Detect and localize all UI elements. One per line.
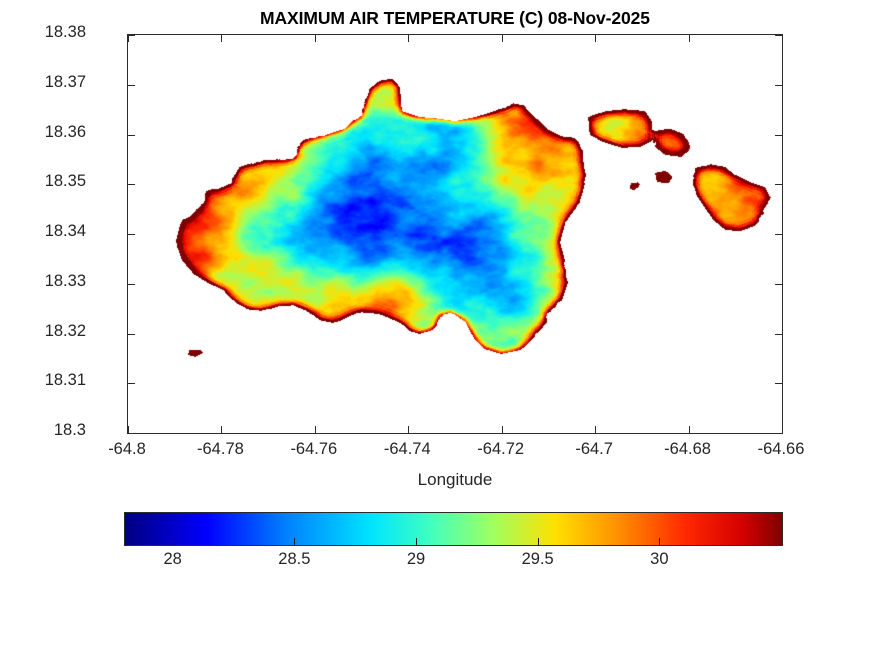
y-tick-label: 18.33 [0, 272, 86, 291]
colorbar-tick-label: 28 [128, 550, 218, 569]
y-tick-mark [775, 135, 782, 136]
colorbar-tick-mark [538, 538, 539, 546]
x-tick-mark [221, 35, 222, 42]
map-axes[interactable] [127, 34, 783, 434]
x-tick-mark [689, 35, 690, 42]
y-tick-label: 18.37 [0, 73, 86, 92]
colorbar-tick-label: 28.5 [249, 550, 339, 569]
colorbar-gradient [124, 512, 783, 546]
x-tick-mark [689, 426, 690, 433]
y-tick-mark [128, 433, 135, 434]
colorbar-tick-mark [294, 538, 295, 546]
temperature-heatmap[interactable] [128, 35, 782, 433]
y-tick-label: 18.38 [0, 23, 86, 42]
colorbar-tick-mark [659, 538, 660, 546]
page-title: MAXIMUM AIR TEMPERATURE (C) 08-Nov-2025 [127, 8, 783, 29]
y-tick-label: 18.3 [0, 421, 86, 440]
colorbar-tick-label: 30 [614, 550, 704, 569]
x-tick-mark [128, 35, 129, 42]
colorbar-tick-mark [173, 538, 174, 546]
y-tick-mark [128, 184, 135, 185]
y-tick-mark [128, 234, 135, 235]
y-tick-label: 18.32 [0, 322, 86, 341]
y-tick-mark [128, 383, 135, 384]
x-tick-mark [782, 35, 783, 42]
x-axis-title: Longitude [127, 470, 783, 490]
x-tick-mark [408, 35, 409, 42]
x-tick-mark [221, 426, 222, 433]
y-tick-mark [775, 184, 782, 185]
x-tick-mark [315, 426, 316, 433]
x-tick-mark [595, 426, 596, 433]
y-tick-label: 18.35 [0, 172, 86, 191]
colorbar-tick-mark [416, 538, 417, 546]
y-tick-mark [128, 35, 135, 36]
y-tick-mark [128, 284, 135, 285]
y-tick-label: 18.31 [0, 371, 86, 390]
y-tick-label: 18.34 [0, 222, 86, 241]
x-tick-mark [502, 426, 503, 433]
x-tick-label: -64.66 [721, 440, 841, 459]
y-tick-mark [775, 85, 782, 86]
x-tick-mark [502, 35, 503, 42]
y-tick-mark [128, 85, 135, 86]
figure-canvas: MAXIMUM AIR TEMPERATURE (C) 08-Nov-2025 … [0, 0, 875, 656]
x-tick-mark [315, 35, 316, 42]
x-tick-mark [782, 426, 783, 433]
y-tick-mark [128, 135, 135, 136]
y-tick-label: 18.36 [0, 123, 86, 142]
y-tick-mark [775, 234, 782, 235]
x-tick-mark [595, 35, 596, 42]
y-tick-mark [775, 35, 782, 36]
y-tick-mark [775, 284, 782, 285]
y-tick-mark [775, 383, 782, 384]
colorbar-tick-label: 29.5 [493, 550, 583, 569]
y-tick-mark [775, 334, 782, 335]
x-tick-mark [408, 426, 409, 433]
colorbar-tick-label: 29 [371, 550, 461, 569]
colorbar[interactable] [124, 512, 783, 546]
y-tick-mark [775, 433, 782, 434]
y-tick-mark [128, 334, 135, 335]
x-tick-mark [128, 426, 129, 433]
